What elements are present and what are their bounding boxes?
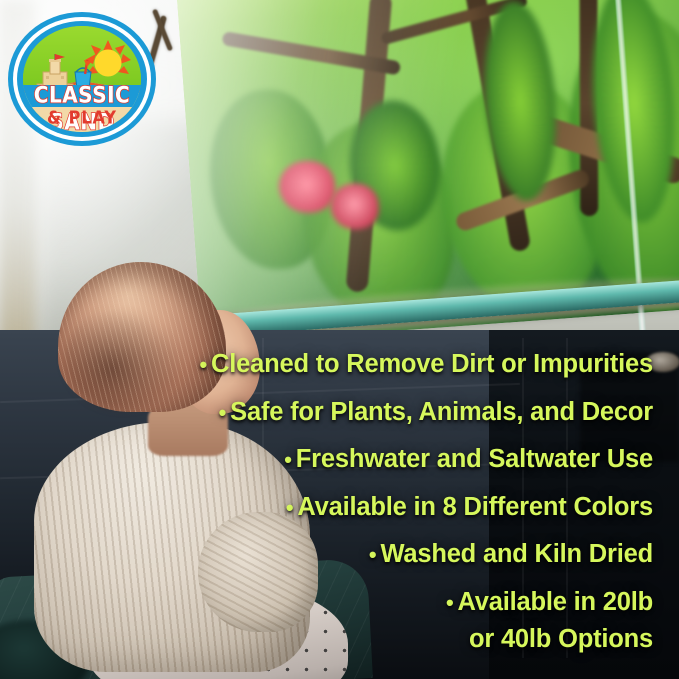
product-marketing-image: CLASSIC SAND & PLAY •Cleaned to Remove D…: [0, 0, 679, 679]
feature-bullet-text: Freshwater and Saltwater Use: [296, 445, 653, 473]
feature-bullet-2: •Safe for Plants, Animals, and Decor: [183, 400, 653, 426]
feature-bullet-3: •Freshwater and Saltwater Use: [183, 447, 653, 473]
bullet-dot-icon: •: [286, 495, 294, 520]
bullet-dot-icon: •: [446, 590, 454, 615]
feature-bullet-6-continuation: or 40lb Options: [183, 627, 653, 653]
feature-bullet-text: Safe for Plants, Animals, and Decor: [230, 398, 653, 426]
classic-sand-and-play-logo: CLASSIC SAND & PLAY: [8, 12, 156, 146]
feature-bullet-list: •Cleaned to Remove Dirt or Impurities•Sa…: [183, 352, 653, 675]
bullet-dot-icon: •: [284, 447, 292, 472]
feature-bullet-6: •Available in 20lb: [183, 590, 653, 616]
feature-bullet-text: Cleaned to Remove Dirt or Impurities: [211, 350, 653, 378]
bullet-dot-icon: •: [219, 400, 227, 425]
feature-bullet-text: Available in 8 Different Colors: [297, 493, 653, 521]
logo-artwork: CLASSIC SAND & PLAY: [23, 26, 141, 132]
logo-title-secondary: & PLAY: [23, 107, 141, 128]
feature-bullet-1: •Cleaned to Remove Dirt or Impurities: [183, 352, 653, 378]
bullet-dot-icon: •: [369, 542, 377, 567]
feature-bullet-text: Available in 20lb: [458, 588, 653, 616]
bullet-dot-icon: •: [200, 352, 208, 377]
feature-bullet-5: •Washed and Kiln Dried: [183, 542, 653, 568]
feature-bullet-text: Washed and Kiln Dried: [380, 540, 653, 568]
feature-bullet-4: •Available in 8 Different Colors: [183, 495, 653, 521]
